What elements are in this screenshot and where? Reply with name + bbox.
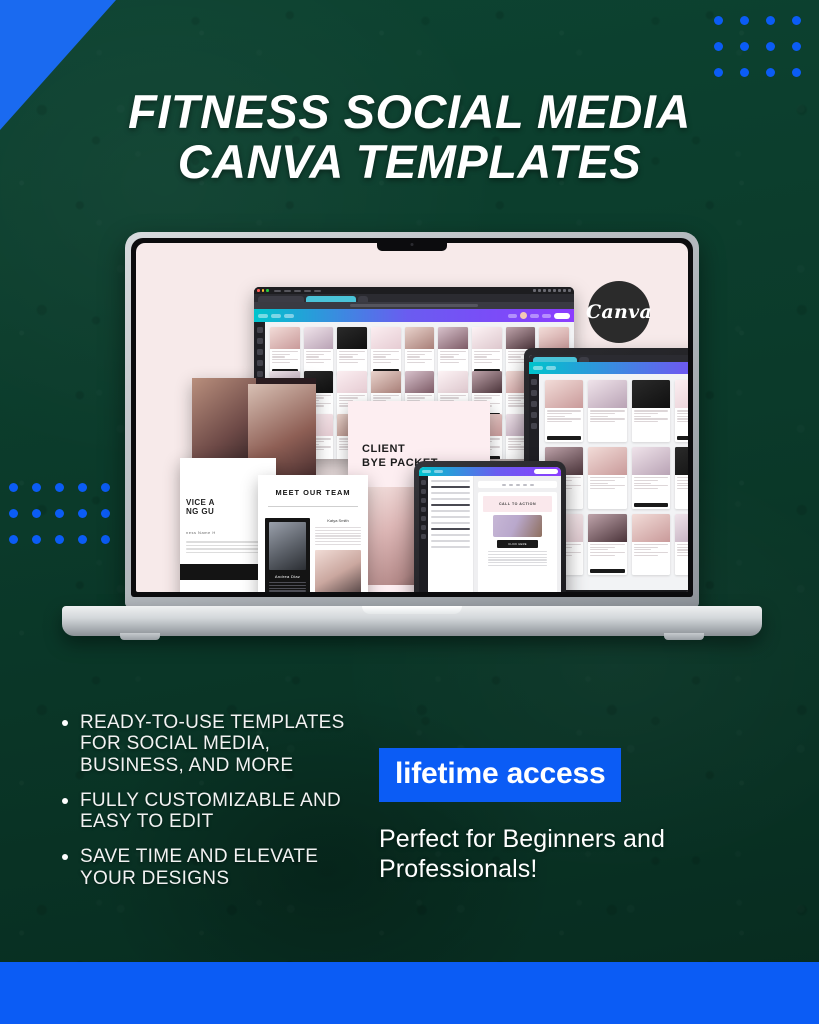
team-card-title: MEET OUR TEAM [258,488,368,497]
decorative-dot [32,483,41,492]
decorative-dot [714,42,723,51]
template-thumbnail[interactable] [632,514,670,576]
browser-titlebar [254,287,574,294]
template-thumbnail[interactable] [304,327,334,375]
browser-tabs [254,294,574,302]
new-tab-button [579,357,589,362]
template-thumbnail-lines [588,542,626,567]
template-thumbnail[interactable] [371,327,401,375]
feature-bullet-list: READY-TO-USE TEMPLATES FOR SOCIAL MEDIA,… [62,712,372,903]
template-thumbnail[interactable] [545,380,583,442]
lifetime-access-label: lifetime access [395,757,605,790]
meet-our-team-card: MEET OUR TEAM Andrea Diaz Katya Smith [258,475,368,592]
template-thumbnail-bar [547,436,581,440]
cta-body-text [488,551,547,566]
laptop-lid: Canva [125,232,699,607]
template-thumbnail-image [675,380,688,408]
bullet-marker-icon [62,798,68,804]
template-thumbnail-lines [588,475,626,508]
feature-bullet-item: FULLY CUSTOMIZABLE AND EASY TO EDIT [62,790,372,833]
template-thumbnail-lines [632,475,670,500]
template-thumbnail-lines [270,349,300,367]
decorative-dot [9,535,18,544]
canva-side-rail [419,476,428,592]
canva-app-toolbar [419,467,561,476]
window-zoom-dot [266,289,269,292]
bottom-accent-bar [0,962,819,1024]
template-thumbnail[interactable] [472,327,502,375]
template-thumbnail[interactable] [337,327,367,375]
decorative-dot [740,68,749,77]
window-close-dot [257,289,260,292]
template-thumbnail-lines [632,542,670,575]
canva-toolbar-right [508,312,570,319]
team-card-divider [268,506,358,507]
headline-line-1: FITNESS SOCIAL MEDIA [40,88,779,135]
canva-toolbar-left [533,366,688,370]
template-thumbnail-image [371,327,401,349]
decorative-dot [766,16,775,25]
template-thumbnail[interactable] [438,327,468,375]
template-thumbnail[interactable] [405,327,435,375]
decorative-dot [792,42,801,51]
template-thumbnail[interactable] [632,380,670,442]
template-thumbnail-image [632,514,670,542]
decorative-dot [792,16,801,25]
template-thumbnail-image [337,371,367,393]
menu-bar [274,290,532,292]
template-thumbnail-image [632,380,670,408]
decorative-dot [740,42,749,51]
browser-address-bar [254,302,574,309]
template-thumbnail[interactable] [588,514,626,576]
template-thumbnail-image [632,447,670,475]
feature-bullet-item: SAVE TIME AND ELEVATE YOUR DESIGNS [62,846,372,889]
canva-wordmark: Canva [586,301,652,323]
laptop-bezel: Canva [131,238,693,597]
laptop-foot [120,633,160,640]
template-thumbnail-lines [545,408,583,433]
template-thumbnail-lines [675,408,688,433]
template-thumbnail-bar [634,503,668,507]
template-thumbnail[interactable] [270,327,300,375]
headline-line-2: CANVA TEMPLATES [40,138,779,185]
cta-heading-text: CALL TO ACTION [499,502,536,506]
bullet-marker-icon [62,720,68,726]
window-minimize-dot [262,289,265,292]
url-text [350,304,478,308]
feature-bullet-text: SAVE TIME AND ELEVATE YOUR DESIGNS [80,846,372,889]
feature-bullet-text: FULLY CUSTOMIZABLE AND EASY TO EDIT [80,790,372,833]
template-thumbnail-image [472,371,502,393]
laptop-base-notch [362,606,462,614]
template-thumbnail-image [588,514,626,542]
cta-subtitle: Perfect for Beginners and Professionals! [379,824,709,884]
template-thumbnail-image [588,447,626,475]
new-tab-button [358,296,368,302]
share-button [534,469,558,474]
team-member-name: Katya Smith [315,518,361,523]
decorative-dot [766,42,775,51]
template-thumbnail-image [405,327,435,349]
template-thumbnail-image [472,327,502,349]
template-thumbnail-lines [675,475,688,508]
canva-layers-panel [428,476,474,592]
template-thumbnail-lines [675,542,688,575]
canva-logo-badge: Canva [588,281,650,343]
team-member-right: Katya Smith [315,518,361,592]
template-thumbnail[interactable] [588,380,626,442]
cta-heading-band: CALL TO ACTION [483,496,552,512]
template-thumbnail[interactable] [675,447,688,509]
feature-bullet-item: READY-TO-USE TEMPLATES FOR SOCIAL MEDIA,… [62,712,372,776]
decorative-dot [9,483,18,492]
template-thumbnail-image [405,371,435,393]
browser-tab [258,296,304,302]
template-thumbnail[interactable] [675,514,688,576]
template-thumbnail-image [438,327,468,349]
template-thumbnail-image [371,371,401,393]
laptop-camera-notch [377,238,447,251]
cta-photo [493,515,543,537]
canva-toolbar-left [258,314,505,318]
template-thumbnail-lines [632,408,670,441]
template-thumbnail-bar [677,436,688,440]
team-member-left: Andrea Diaz [265,518,310,592]
laptop-base [62,606,762,636]
team-member-photo [315,550,361,592]
tablet-editor-body: CALL TO ACTION CLICK HERE [419,476,561,592]
feature-bullet-text: READY-TO-USE TEMPLATES FOR SOCIAL MEDIA,… [80,712,372,776]
template-thumbnail[interactable] [632,447,670,509]
decorative-dot [740,16,749,25]
template-thumbnail[interactable] [588,447,626,509]
canva-app-toolbar [529,362,688,374]
browser-tab-active [306,296,356,302]
browser-tabs [529,355,688,362]
canvas-page: CALL TO ACTION CLICK HERE [478,492,557,592]
decorative-dot [32,535,41,544]
tablet-screen: CALL TO ACTION CLICK HERE [419,467,561,592]
template-thumbnail-bar [590,569,624,573]
laptop-foot [664,633,704,640]
system-tray [533,289,571,292]
template-thumbnail-image [675,447,688,475]
collage-photo [192,378,256,470]
team-member-name: Andrea Diaz [269,574,306,579]
lifetime-access-badge[interactable]: lifetime access [379,748,621,802]
share-button [554,313,570,319]
decorative-dot [714,68,723,77]
canva-app-toolbar [254,309,574,322]
template-thumbnail-image [588,380,626,408]
avatar [520,312,527,319]
team-card-columns: Andrea Diaz Katya Smith [258,518,368,592]
template-thumbnail-image [438,371,468,393]
tablet-canvas-area: CALL TO ACTION CLICK HERE [474,476,561,592]
team-member-photo [269,522,306,570]
page-title: FITNESS SOCIAL MEDIA CANVA TEMPLATES [0,88,819,185]
template-thumbnail-image [539,327,569,349]
template-thumbnail-image [506,327,536,349]
decorative-dot [9,509,18,518]
template-thumbnail[interactable] [675,380,688,442]
decorative-dot [792,68,801,77]
template-thumbnail-image [675,514,688,542]
template-thumbnail-image [545,380,583,408]
template-thumbnail-image [270,327,300,349]
template-thumbnail-lines [371,349,401,367]
template-thumbnail-lines [588,408,626,441]
tablet-device: CALL TO ACTION CLICK HERE [414,461,566,592]
poster-canvas: FITNESS SOCIAL MEDIA CANVA TEMPLATES Can… [0,0,819,1024]
cta-button: CLICK HERE [497,540,537,548]
decorative-dot [714,16,723,25]
bullet-marker-icon [62,854,68,860]
template-thumbnail-image [304,327,334,349]
template-thumbnail-image [337,327,367,349]
laptop-screen: Canva [136,243,688,592]
product-mockup: Canva [62,232,762,652]
cta-block: lifetime access Perfect for Beginners an… [379,748,709,884]
template-thumbnail-lines [472,349,502,367]
browser-tab-active [533,357,577,362]
dot-grid-top-right [705,7,809,85]
decorative-dot [32,509,41,518]
canvas-toolbar [478,481,557,488]
decorative-dot [766,68,775,77]
